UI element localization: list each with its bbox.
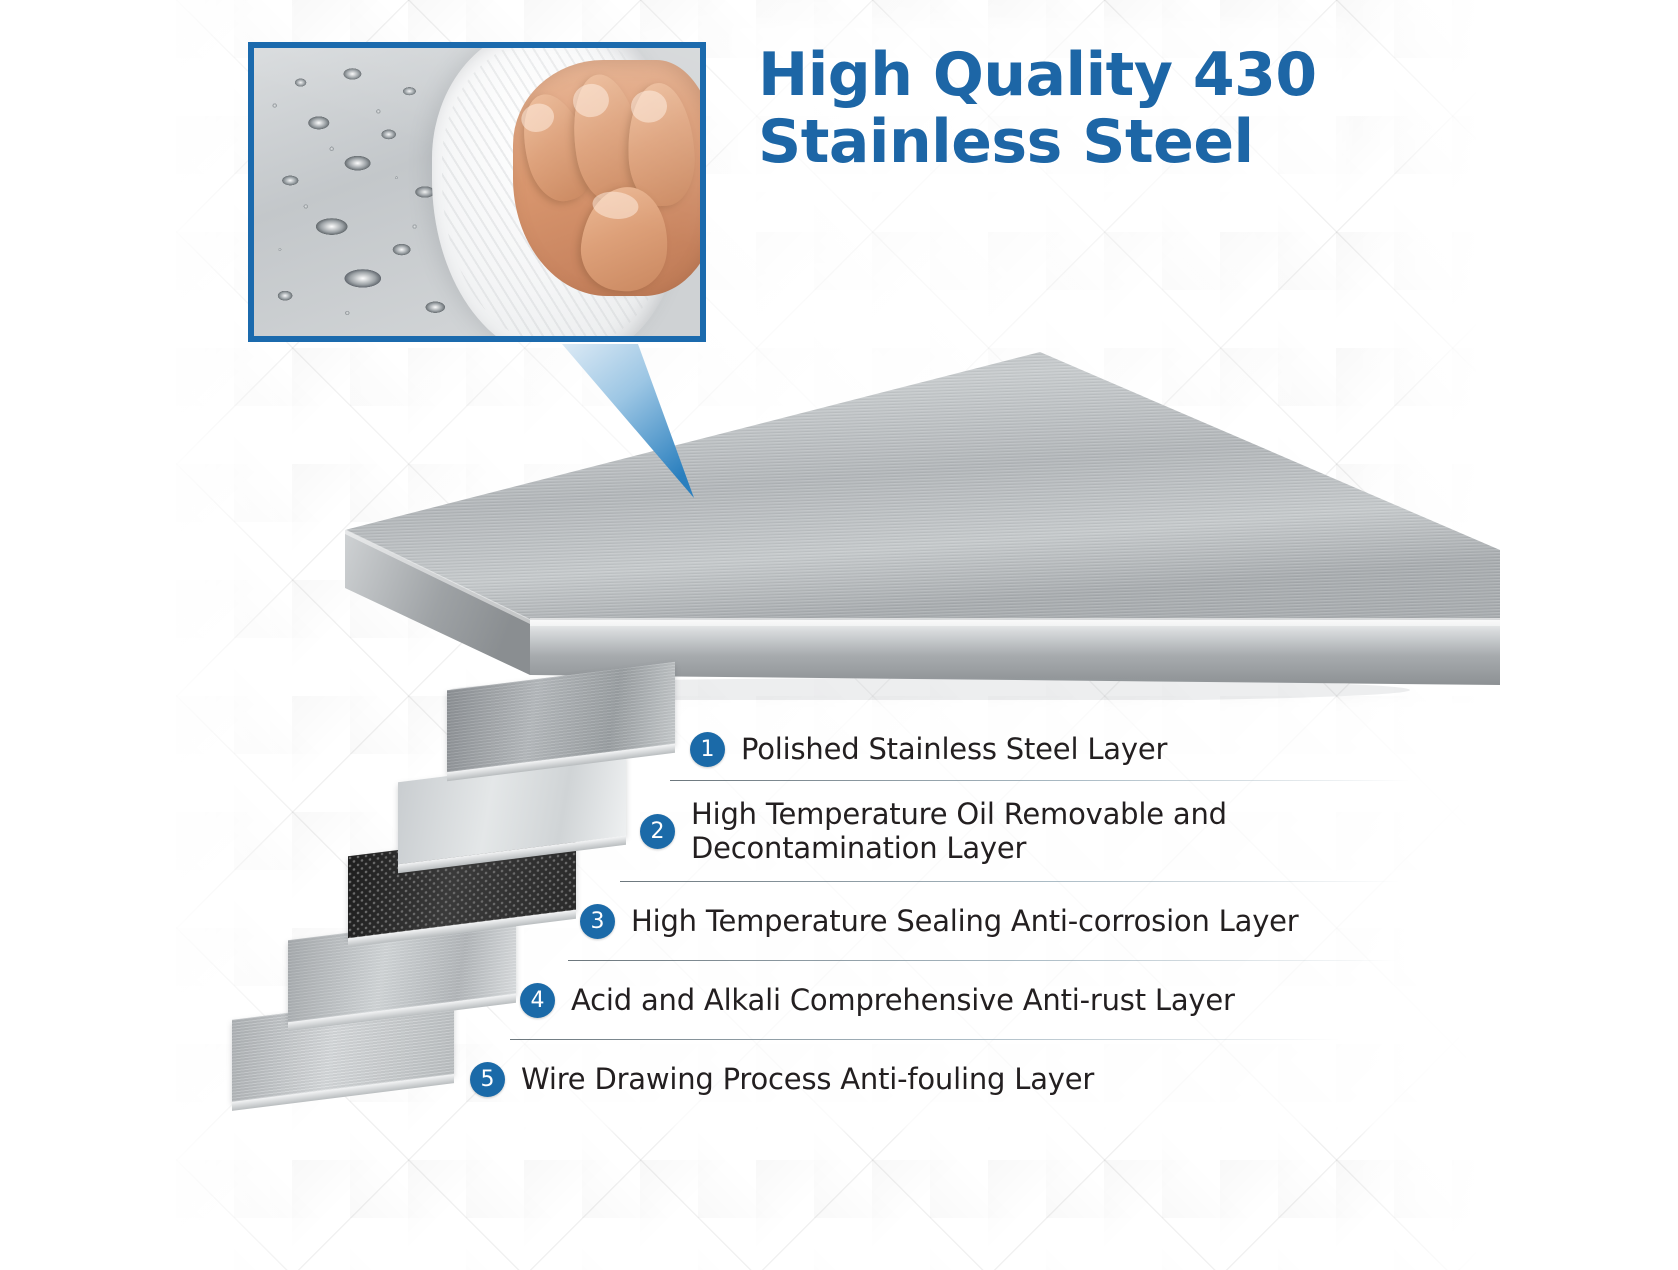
layer-feature-list: 1 Polished Stainless Steel Layer 2 High … [520, 718, 1480, 1118]
page-title: High Quality 430 Stainless Steel [758, 42, 1518, 176]
list-item[interactable]: 3 High Temperature Sealing Anti-corrosio… [520, 882, 1480, 960]
infographic-canvas: High Quality 430 Stainless Steel 1 Polis… [0, 0, 1678, 1270]
list-item-label: High Temperature Oil Removable and Decon… [691, 797, 1227, 865]
callout-cone [520, 340, 750, 510]
list-item-label: Wire Drawing Process Anti-fouling Layer [521, 1062, 1094, 1096]
list-item-label: Acid and Alkali Comprehensive Anti-rust … [571, 983, 1235, 1017]
list-item-badge: 3 [580, 904, 615, 939]
list-item-label: High Temperature Sealing Anti-corrosion … [631, 904, 1299, 938]
water-droplets-wipe-photo [248, 42, 706, 342]
list-item-label: Polished Stainless Steel Layer [741, 732, 1167, 766]
list-item[interactable]: 5 Wire Drawing Process Anti-fouling Laye… [470, 1040, 1480, 1118]
hand [513, 60, 706, 296]
list-item[interactable]: 4 Acid and Alkali Comprehensive Anti-rus… [520, 961, 1480, 1039]
brushed-stainless-table-top [290, 330, 1500, 700]
list-item-badge: 2 [640, 814, 675, 849]
list-item[interactable]: 2 High Temperature Oil Removable and Dec… [520, 781, 1480, 881]
list-item-badge: 4 [520, 983, 555, 1018]
list-item-badge: 1 [690, 732, 725, 767]
list-item-badge: 5 [470, 1062, 505, 1097]
title-line-2: Stainless Steel [758, 109, 1518, 176]
title-line-1: High Quality 430 [758, 42, 1518, 109]
